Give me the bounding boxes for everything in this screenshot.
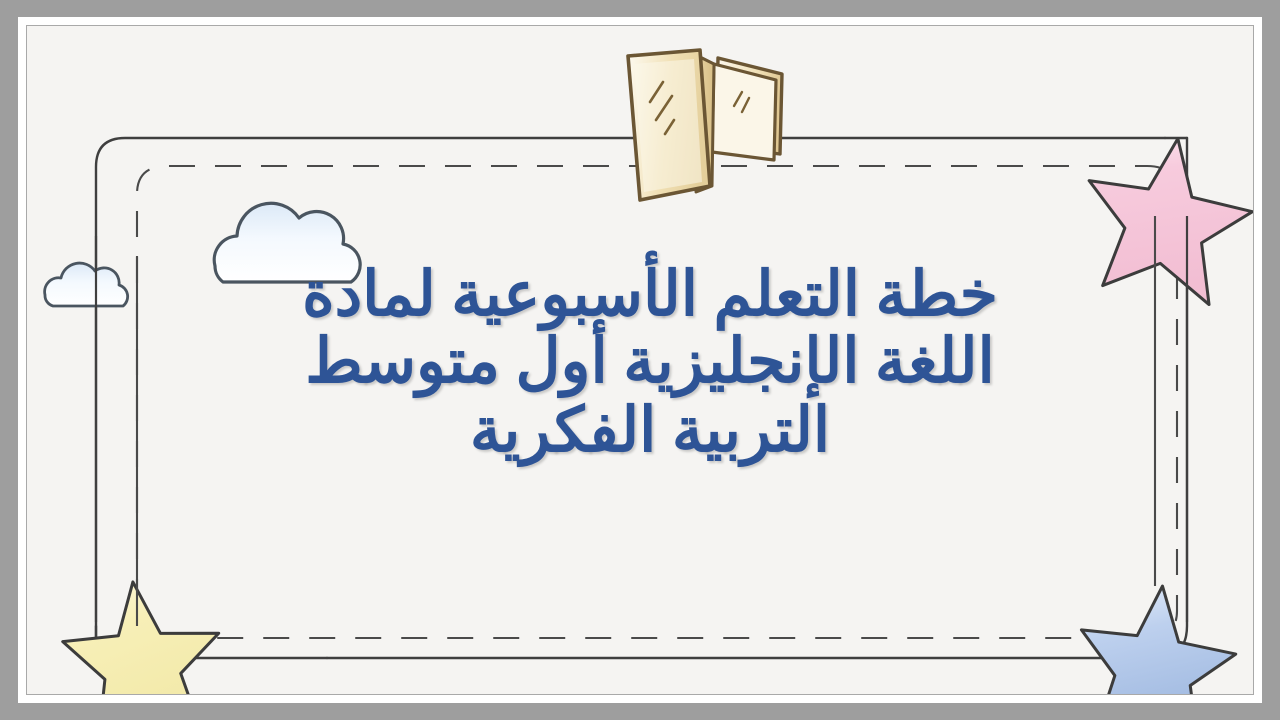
- title-line-1: خطة التعلم الأسبوعية لمادة: [150, 262, 1150, 329]
- title-line-2: اللغة الإنجليزية أول متوسط: [150, 329, 1150, 396]
- page-title: خطة التعلم الأسبوعية لمادة اللغة الإنجلي…: [150, 262, 1150, 465]
- star-yellow: [57, 574, 228, 694]
- cloud-small: [45, 263, 128, 306]
- title-line-3: التربية الفكرية: [150, 398, 1150, 465]
- slide-root: خطة التعلم الأسبوعية لمادة اللغة الإنجلي…: [0, 0, 1280, 720]
- open-book-illustration: [628, 50, 782, 200]
- star-blue: [1071, 578, 1242, 694]
